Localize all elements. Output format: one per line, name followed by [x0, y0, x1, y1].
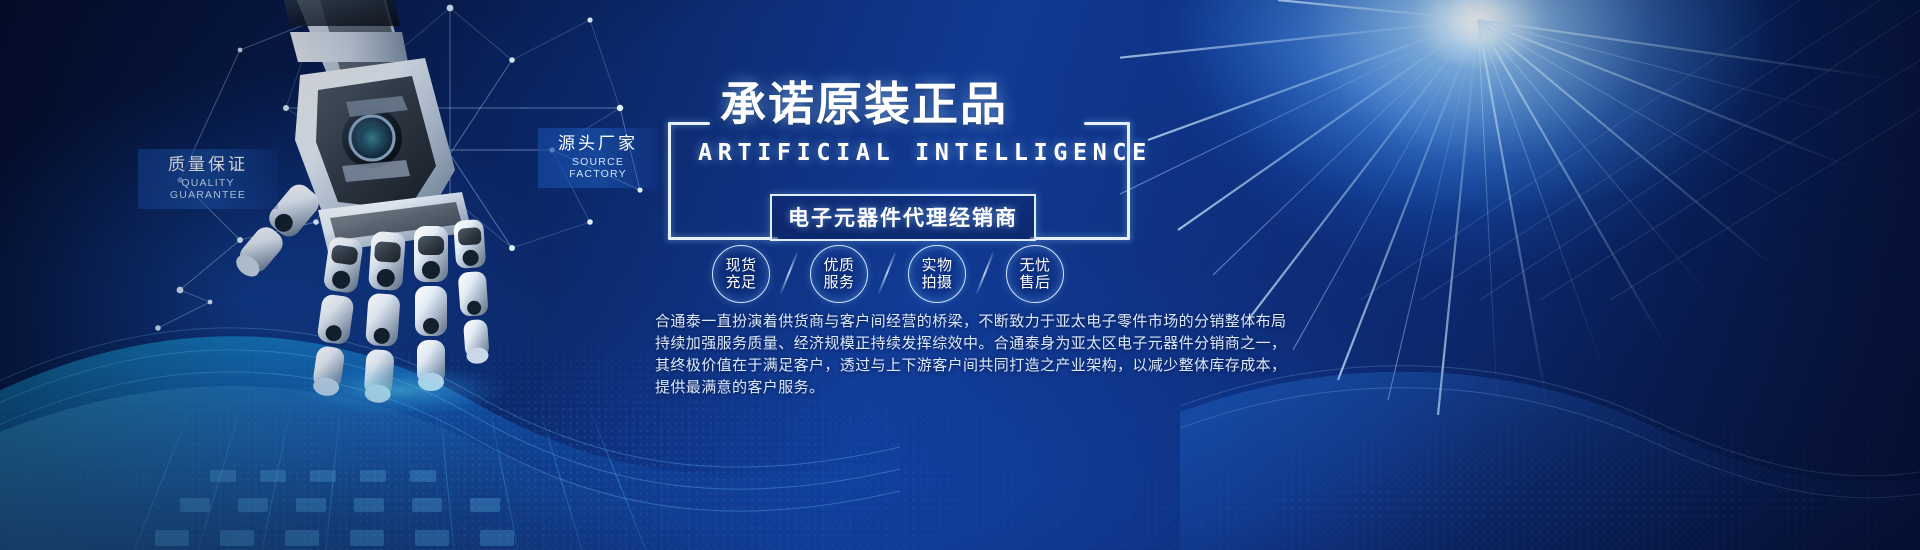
- chip-quality-guarantee: 质量保证 QUALITY GUARANTEE: [138, 149, 278, 209]
- headline-subtitle-text: 电子元器件代理经销商: [788, 206, 1018, 230]
- feature-badge-list: 现货 充足 优质 服务 实物 拍摄 无忧 售后: [712, 245, 1064, 303]
- badge-service[interactable]: 优质 服务: [810, 245, 868, 303]
- badge-stock-line1: 现货: [725, 257, 756, 274]
- description-line-3: 其终极价值在于满足客户，透过与上下游客户间共同打造之产业架构，以减少整体库存成本…: [655, 354, 1315, 376]
- description-line-4: 提供最满意的客户服务。: [655, 376, 1315, 398]
- chip-quality-en: QUALITY GUARANTEE: [152, 177, 264, 202]
- chip-factory-en: SOURCE FACTORY: [552, 156, 644, 181]
- badge-divider-3: [966, 245, 1006, 303]
- bracket-top-left: [668, 122, 710, 125]
- robotic-hand-image: [150, 0, 620, 440]
- badge-stock-line2: 充足: [725, 274, 756, 291]
- bracket-left: [668, 122, 671, 240]
- chip-factory-cn: 源头厂家: [552, 134, 644, 154]
- badge-real-photo[interactable]: 实物 拍摄: [908, 245, 966, 303]
- chip-quality-cn: 质量保证: [152, 155, 264, 175]
- description-paragraph: 合通泰一直扮演着供货商与客户间经营的桥梁，不断致力于亚太电子零件市场的分销整体布…: [655, 310, 1315, 398]
- badge-real-photo-line1: 实物: [921, 257, 952, 274]
- headline-group: 承诺原装正品 ARTIFICIAL INTELLIGENCE 电子元器件代理经销…: [660, 78, 1130, 258]
- bracket-bottom-left: [668, 237, 778, 240]
- badge-real-photo-line2: 拍摄: [921, 274, 952, 291]
- headline-subtitle-box: 电子元器件代理经销商: [770, 194, 1036, 241]
- description-line-1: 合通泰一直扮演着供货商与客户间经营的桥梁，不断致力于亚太电子零件市场的分销整体布…: [655, 310, 1315, 332]
- badge-after-sales-line1: 无忧: [1019, 257, 1050, 274]
- description-line-2: 持续加强服务质量、经济规模正持续发挥综效中。合通泰身为亚太区电子元器件分销商之一…: [655, 332, 1315, 354]
- badge-stock[interactable]: 现货 充足: [712, 245, 770, 303]
- badge-after-sales-line2: 售后: [1019, 274, 1050, 291]
- promo-banner: 质量保证 QUALITY GUARANTEE 源头厂家 SOURCE FACTO…: [0, 0, 1920, 550]
- bracket-bottom-right: [1030, 237, 1130, 240]
- badge-divider-2: [868, 245, 908, 303]
- badge-after-sales[interactable]: 无忧 售后: [1006, 245, 1064, 303]
- headline-title-cn: 承诺原装正品: [720, 81, 1008, 127]
- chip-source-factory: 源头厂家 SOURCE FACTORY: [538, 128, 658, 188]
- badge-divider-1: [770, 245, 810, 303]
- badge-service-line1: 优质: [823, 257, 854, 274]
- badge-service-line2: 服务: [823, 274, 854, 291]
- bracket-top-right: [1084, 122, 1130, 125]
- headline-title-en: ARTIFICIAL INTELLIGENCE: [698, 140, 1152, 166]
